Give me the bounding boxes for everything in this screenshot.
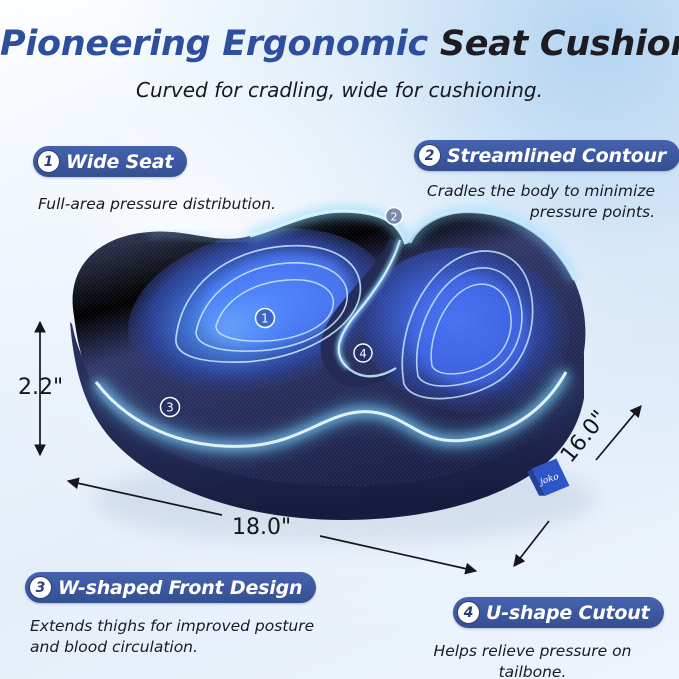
w-front-edge-glow xyxy=(96,372,566,446)
right-seat-well xyxy=(352,234,581,425)
callout-4-badge[interactable]: 4 U-shape Cutout xyxy=(453,597,664,628)
callout-3-description: Extends thighs for improved posture and … xyxy=(30,616,330,658)
right-contour-rings xyxy=(402,251,532,399)
callout-1-badge[interactable]: 1 Wide Seat xyxy=(33,146,187,177)
cushion-side-wall xyxy=(70,322,584,520)
brand-tag-text: joko xyxy=(537,472,561,488)
svg-text:1: 1 xyxy=(261,312,269,326)
callout-1-number: 1 xyxy=(37,150,60,173)
dimension-height-label: 2.2" xyxy=(18,375,63,400)
marker-4: 4 xyxy=(354,344,372,362)
cushion-markers: 1 2 3 4 xyxy=(161,208,403,417)
callout-3-number: 3 xyxy=(29,576,52,599)
page-subtitle: Curved for cradling, wide for cushioning… xyxy=(0,76,679,104)
dimension-depth-label: 16.0" xyxy=(556,406,613,468)
callout-1-title: Wide Seat xyxy=(66,151,173,173)
left-seat-well xyxy=(112,204,404,415)
cushion-top-body xyxy=(73,211,586,486)
callout-4-title: U-shape Cutout xyxy=(486,602,650,624)
u-cutout-group xyxy=(321,238,400,387)
left-well-core xyxy=(192,239,361,361)
svg-text:3: 3 xyxy=(166,401,174,415)
cushion-shadow xyxy=(93,456,597,544)
brand-tag: joko xyxy=(526,457,570,499)
callout-2-badge[interactable]: 2 Streamlined Contour xyxy=(414,140,679,171)
title-blue-part: Pioneering Ergonomic xyxy=(0,24,428,64)
cutout-highlight xyxy=(156,282,300,378)
callout-1-description: Full-area pressure distribution. xyxy=(38,194,276,215)
dimension-width-label: 18.0" xyxy=(232,515,291,540)
callout-2-description: Cradles the body to minimize pressure po… xyxy=(390,181,655,223)
page-title: Pioneering Ergonomic Seat Cushion xyxy=(0,22,679,66)
infographic-page: Pioneering Ergonomic Seat Cushion Curved… xyxy=(0,0,679,679)
callout-4-description: Helps relieve pressure on tailbone. xyxy=(400,641,665,679)
marker-3: 3 xyxy=(161,398,180,417)
callout-2-title: Streamlined Contour xyxy=(447,145,666,167)
left-contour-rings xyxy=(176,246,360,362)
title-dark-part: Seat Cushion xyxy=(428,24,679,64)
callout-3-badge[interactable]: 3 W-shaped Front Design xyxy=(25,572,316,603)
right-well-core xyxy=(412,276,528,388)
callout-4-number: 4 xyxy=(457,601,480,624)
callout-3-title: W-shaped Front Design xyxy=(58,577,302,599)
svg-text:4: 4 xyxy=(359,347,366,361)
callout-2-number: 2 xyxy=(418,144,441,167)
marker-1: 1 xyxy=(256,309,275,328)
